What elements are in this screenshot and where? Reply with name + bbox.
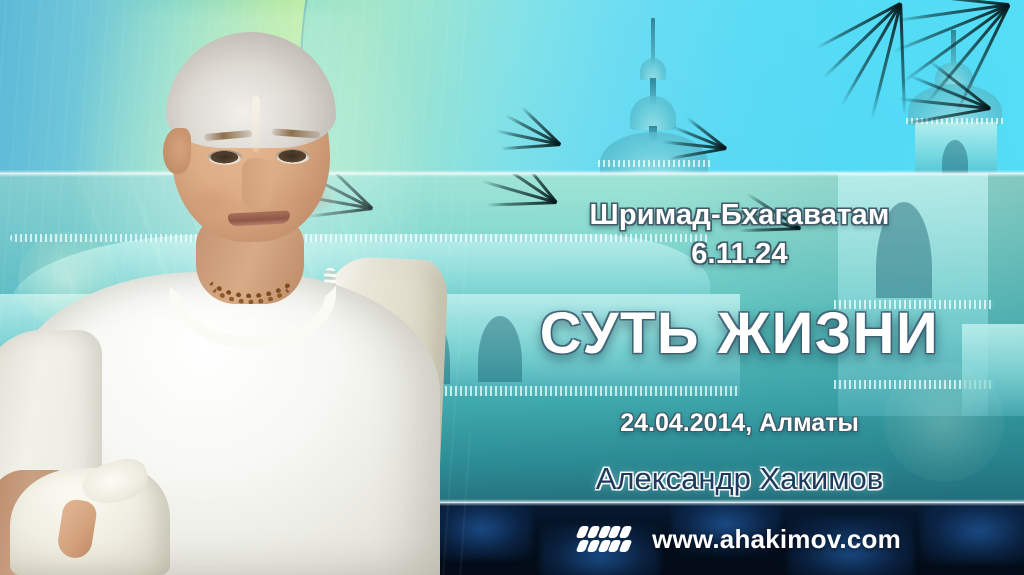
- lecture-announcement-poster: Шримад-Бхагаватам 6.11.24 СУТЬ ЖИЗНИ 24.…: [0, 0, 1024, 575]
- poster-footer: www.ahakimov.com: [455, 503, 1024, 575]
- website-url[interactable]: www.ahakimov.com: [652, 524, 901, 555]
- logo-dash: [619, 526, 633, 538]
- portrait-nose: [242, 158, 272, 210]
- speaker-portrait: [0, 0, 470, 575]
- logo-dash: [619, 540, 633, 552]
- ahakimov-dashes-logo-icon: [578, 526, 630, 552]
- scripture-verse: 6.11.24: [455, 235, 1024, 274]
- poster-text-column: Шримад-Бхагаватам 6.11.24 СУТЬ ЖИЗНИ 24.…: [455, 0, 1024, 575]
- scripture-reference: Шримад-Бхагаватам 6.11.24: [455, 196, 1024, 274]
- portrait-eye-right: [276, 149, 310, 164]
- portrait-cheek-right: [282, 180, 338, 216]
- portrait-forehead-marking: [252, 96, 260, 152]
- portrait-eye-left: [208, 150, 242, 165]
- portrait-ear: [163, 128, 191, 174]
- scripture-name: Шримад-Бхагаватам: [455, 196, 1024, 235]
- poster-author-name: Александр Хакимов: [455, 461, 1024, 497]
- poster-date-location: 24.04.2014, Алматы: [455, 409, 1024, 438]
- poster-title: СУТЬ ЖИЗНИ: [455, 305, 1024, 363]
